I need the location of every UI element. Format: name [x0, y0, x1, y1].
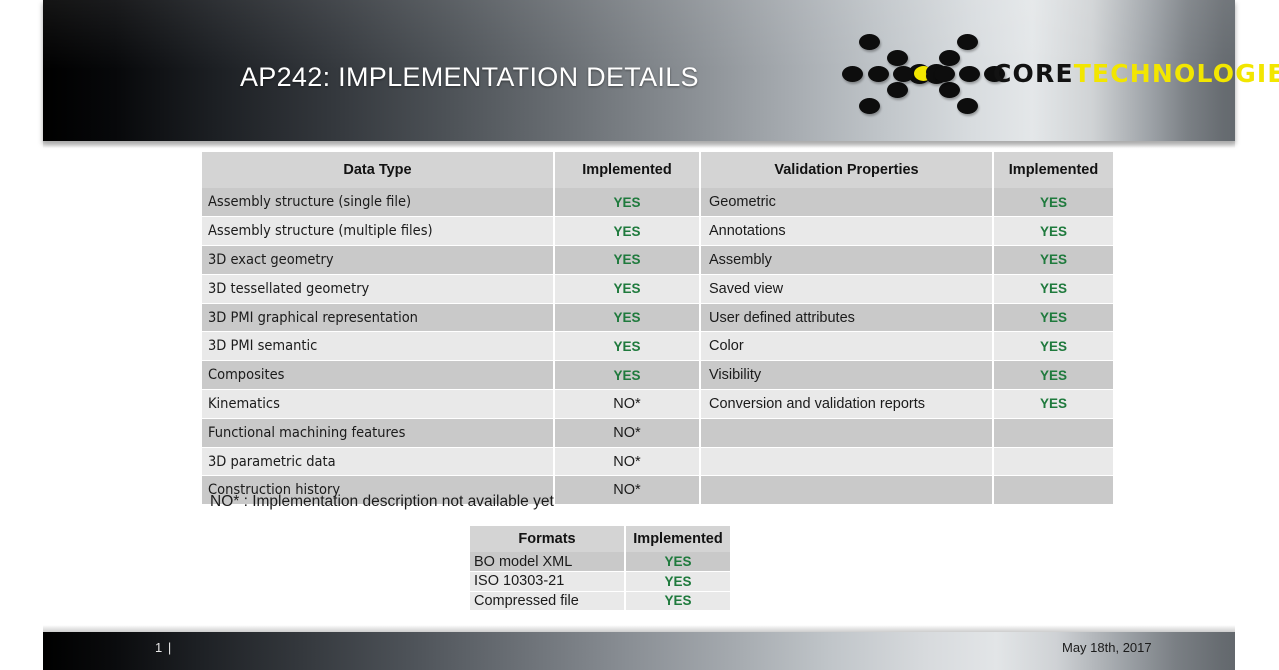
cell-validation-property: [700, 418, 993, 447]
cell-implemented-right: [993, 447, 1113, 476]
cell-data-type: Composites: [202, 361, 554, 390]
footnote-no-asterisk: NO* : Implementation description not ava…: [210, 493, 554, 511]
cell-implemented-left: YES: [554, 303, 700, 332]
cell-implemented-right: [993, 418, 1113, 447]
cell-validation-property: [700, 447, 993, 476]
cell-format-implemented: YES: [625, 572, 730, 592]
table-header-row: Data Type Implemented Validation Propert…: [202, 152, 1113, 188]
table-row: KinematicsNO*Conversion and validation r…: [202, 390, 1113, 419]
cell-data-type: Assembly structure (single file): [202, 188, 554, 217]
cell-implemented-left: YES: [554, 246, 700, 275]
table-row: CompositesYESVisibilityYES: [202, 361, 1113, 390]
cell-format-name: BO model XML: [470, 552, 625, 572]
cell-data-type: 3D PMI semantic: [202, 332, 554, 361]
cell-implemented-right: YES: [993, 390, 1113, 419]
cell-data-type: 3D exact geometry: [202, 246, 554, 275]
cell-validation-property: User defined attributes: [700, 303, 993, 332]
column-header-implemented-left: Implemented: [554, 152, 700, 188]
cell-data-type: Functional machining features: [202, 418, 554, 447]
cell-implemented-right: [993, 476, 1113, 505]
table-row: 3D PMI graphical representationYESUser d…: [202, 303, 1113, 332]
cell-format-implemented: YES: [625, 552, 730, 572]
cell-implemented-left: YES: [554, 217, 700, 246]
cell-implemented-right: YES: [993, 361, 1113, 390]
cell-implemented-right: YES: [993, 188, 1113, 217]
cell-implemented-left: NO*: [554, 418, 700, 447]
logo-word-technologie: TECHNOLOGIE: [1074, 59, 1279, 88]
table-row: Assembly structure (single file)YESGeome…: [202, 188, 1113, 217]
cell-validation-property: Conversion and validation reports: [700, 390, 993, 419]
column-header-formats-implemented: Implemented: [625, 526, 730, 552]
logo-word-core: CORE: [993, 59, 1074, 88]
cell-validation-property: [700, 476, 993, 505]
table-row: Functional machining featuresNO*: [202, 418, 1113, 447]
slide-footer-band: [43, 632, 1235, 670]
cell-implemented-left: YES: [554, 332, 700, 361]
cell-format-name: ISO 10303-21: [470, 572, 625, 592]
cell-implemented-left: NO*: [554, 447, 700, 476]
cell-validation-property: Assembly: [700, 246, 993, 275]
column-header-validation-properties: Validation Properties: [700, 152, 993, 188]
cell-format-name: Compressed file: [470, 591, 625, 611]
cell-implemented-left: NO*: [554, 390, 700, 419]
core-technologie-dot-mark-icon: [838, 28, 998, 120]
cell-format-implemented: YES: [625, 591, 730, 611]
cell-implemented-left: YES: [554, 361, 700, 390]
cell-validation-property: Annotations: [700, 217, 993, 246]
cell-implemented-left: NO*: [554, 476, 700, 505]
cell-implemented-right: YES: [993, 217, 1113, 246]
cell-implemented-right: YES: [993, 303, 1113, 332]
formats-table: Formats Implemented BO model XMLYESISO 1…: [470, 526, 730, 611]
footer-highlight-line: [43, 625, 1235, 632]
formats-header-row: Formats Implemented: [470, 526, 730, 552]
footer-page-number: 1 |: [155, 640, 172, 655]
table-row: 3D PMI semanticYESColorYES: [202, 332, 1113, 361]
cell-data-type: Kinematics: [202, 390, 554, 419]
cell-data-type: 3D tessellated geometry: [202, 274, 554, 303]
company-logo: CORETECHNOLOGIE: [838, 28, 1228, 120]
cell-data-type: 3D PMI graphical representation: [202, 303, 554, 332]
cell-validation-property: Geometric: [700, 188, 993, 217]
table-row: 3D tessellated geometryYESSaved viewYES: [202, 274, 1113, 303]
list-item: ISO 10303-21YES: [470, 572, 730, 592]
cell-implemented-right: YES: [993, 332, 1113, 361]
cell-implemented-left: YES: [554, 188, 700, 217]
header-underline: [43, 141, 1235, 148]
cell-implemented-right: YES: [993, 246, 1113, 275]
table-row: 3D parametric dataNO*: [202, 447, 1113, 476]
cell-data-type: 3D parametric data: [202, 447, 554, 476]
cell-validation-property: Color: [700, 332, 993, 361]
column-header-formats: Formats: [470, 526, 625, 552]
list-item: BO model XMLYES: [470, 552, 730, 572]
implementation-details-table: Data Type Implemented Validation Propert…: [202, 152, 1113, 505]
logo-wordmark: CORETECHNOLOGIE: [993, 59, 1279, 88]
table-row: Assembly structure (multiple files)YESAn…: [202, 217, 1113, 246]
column-header-data-type: Data Type: [202, 152, 554, 188]
cell-implemented-left: YES: [554, 274, 700, 303]
cell-implemented-right: YES: [993, 274, 1113, 303]
footer-date: May 18th, 2017: [1062, 640, 1152, 655]
page-title: AP242: IMPLEMENTATION DETAILS: [240, 62, 699, 93]
cell-data-type: Assembly structure (multiple files): [202, 217, 554, 246]
list-item: Compressed fileYES: [470, 591, 730, 611]
cell-validation-property: Saved view: [700, 274, 993, 303]
cell-validation-property: Visibility: [700, 361, 993, 390]
column-header-implemented-right: Implemented: [993, 152, 1113, 188]
table-row: 3D exact geometryYESAssemblyYES: [202, 246, 1113, 275]
